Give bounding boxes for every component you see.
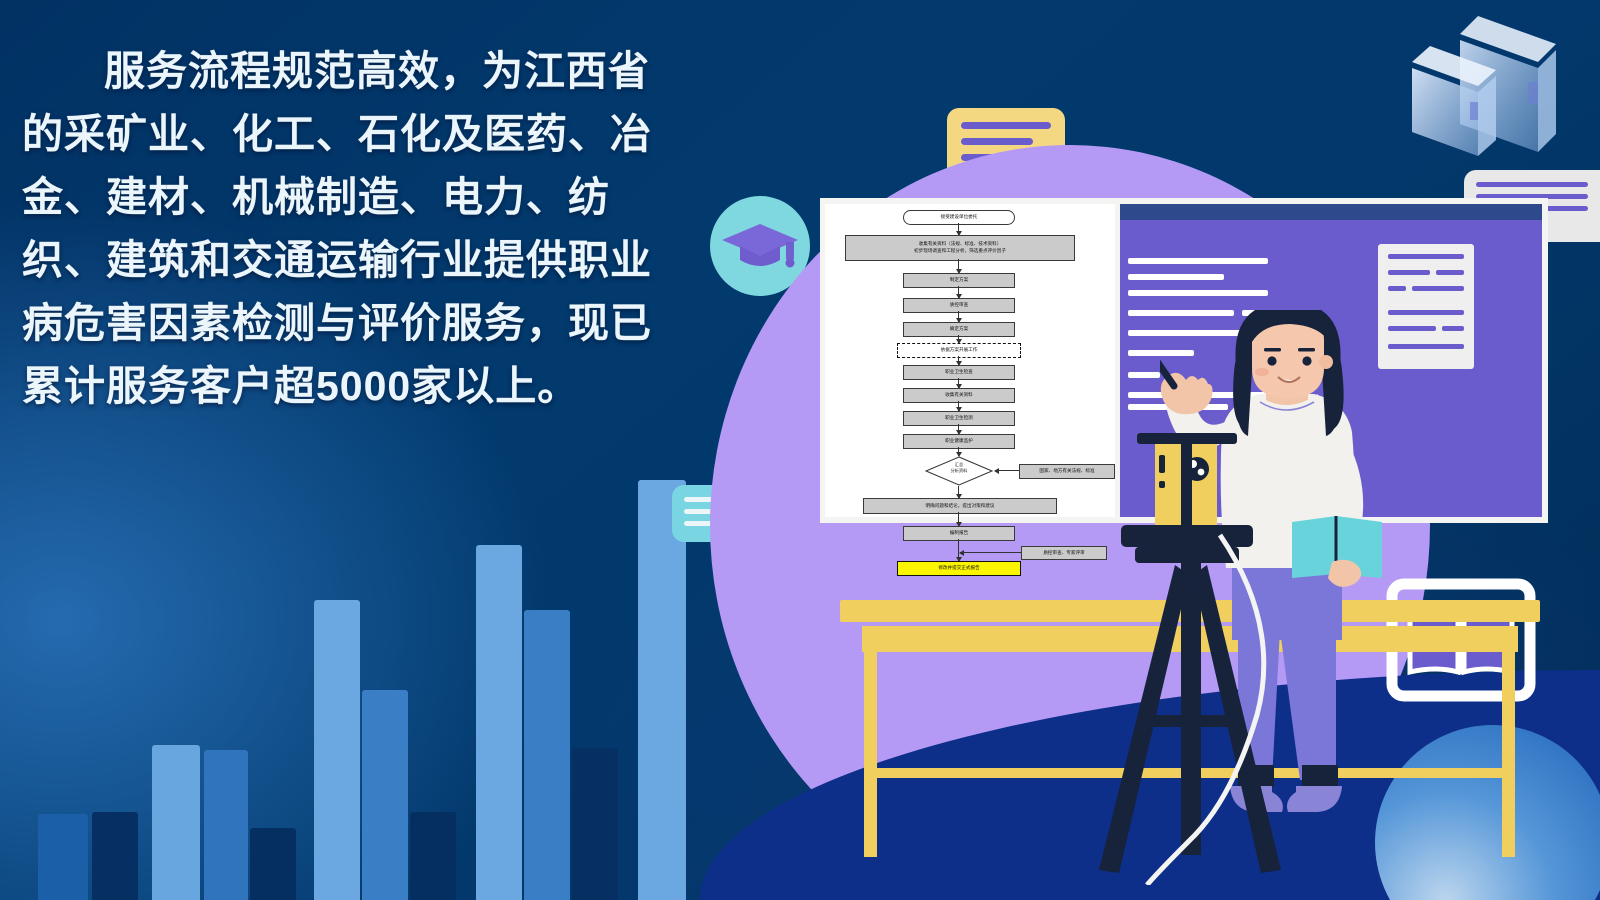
board-line	[1128, 290, 1268, 296]
headline-line: 累计服务客户超5000家以上。	[22, 355, 762, 418]
chart-bar	[476, 545, 522, 900]
flow-node-line: 初步现场调查和工程分析，筛选重点评价因子	[914, 248, 1006, 255]
chart-bar	[524, 610, 570, 900]
whiteboard-top-band	[1120, 204, 1542, 220]
flow-arrow	[958, 356, 959, 365]
flow-arrow	[958, 424, 959, 434]
flow-arrow	[958, 539, 959, 561]
flow-arrow	[958, 447, 959, 456]
chart-bar	[92, 812, 138, 900]
chart-bar	[38, 814, 88, 900]
flow-node-n2: 收集有关资料（法规、标准、技术资料） 初步现场调查和工程分析，筛选重点评价因子	[845, 235, 1075, 261]
decorative-bar-chart	[0, 400, 700, 900]
flow-node-n11: 汇总分析资料	[925, 456, 993, 486]
flow-node-n7: 职业卫生检查	[903, 365, 1015, 380]
doc-line	[1412, 286, 1464, 291]
headline-line: 金、建材、机械制造、电力、纺	[22, 166, 762, 229]
flow-arrow	[958, 486, 959, 498]
chart-bar	[250, 828, 296, 900]
chart-bar	[204, 750, 248, 900]
chart-bar	[152, 745, 200, 900]
flow-node-n4: 质控审查	[903, 298, 1015, 313]
flow-arrow-horizontal	[960, 552, 1021, 553]
flow-node-n1: 接受建设单位委托	[903, 210, 1015, 225]
flowchart-paper: 接受建设单位委托 收集有关资料（法规、标准、技术资料） 初步现场调查和工程分析，…	[825, 204, 1115, 517]
flow-arrow	[958, 512, 959, 526]
flow-arrow-horizontal	[995, 470, 1019, 471]
flowchart: 接受建设单位委托 收集有关资料（法规、标准、技术资料） 初步现场调查和工程分析，…	[825, 204, 1115, 517]
headline-line: 服务流程规范高效，为江西省	[22, 40, 762, 103]
flow-arrow	[958, 401, 959, 411]
desk-leg-right	[1502, 652, 1515, 857]
board-line	[1128, 372, 1160, 378]
board-line	[1128, 258, 1268, 264]
board-line	[1128, 274, 1224, 280]
flow-arrow	[958, 378, 959, 388]
tripod-projector	[1085, 415, 1295, 885]
classroom-illustration: 接受建设单位委托 收集有关资料（法规、标准、技术资料） 初步现场调查和工程分析，…	[700, 0, 1600, 900]
flow-node-n13: 编制报告	[903, 526, 1015, 541]
doc-line	[1388, 270, 1430, 275]
flow-node-n14: 修改并提交正式报告	[897, 561, 1021, 576]
flow-arrow	[958, 286, 959, 298]
flow-node-n3: 制定方案	[903, 273, 1015, 288]
headline-line: 病危害因素检测与评价服务，现已	[22, 292, 762, 355]
flow-node-n9: 职业卫生检测	[903, 411, 1015, 426]
chart-bar	[314, 600, 360, 900]
flow-arrow	[958, 259, 959, 273]
flow-arrow	[958, 311, 959, 322]
flow-node-n11-label: 汇总分析资料	[925, 462, 993, 474]
poster-canvas: 服务流程规范高效，为江西省 的采矿业、化工、石化及医药、冶 金、建材、机械制造、…	[0, 0, 1600, 900]
doc-line	[1388, 286, 1406, 291]
desk-leg-left	[864, 652, 877, 857]
flow-node-n12: 明确问题和结论，提出对策和建议	[863, 498, 1057, 514]
flow-node-n5: 确定方案	[903, 322, 1015, 337]
headline-line: 织、建筑和交通运输行业提供职业	[22, 229, 762, 292]
chart-bar	[410, 812, 456, 900]
doc-line	[1388, 254, 1464, 259]
headline-text: 服务流程规范高效，为江西省 的采矿业、化工、石化及医药、冶 金、建材、机械制造、…	[22, 40, 762, 418]
chart-bar	[362, 690, 408, 900]
flow-node-line: 收集有关资料（法规、标准、技术资料）	[919, 241, 1002, 248]
flow-arrow	[958, 335, 959, 343]
flow-node-n8: 收集有关资料	[903, 388, 1015, 403]
flow-node-n6: 依据方案开展工作	[897, 343, 1021, 358]
flow-node-n10: 职业健康监护	[903, 434, 1015, 449]
chart-bar	[572, 748, 618, 900]
chart-bar	[638, 480, 686, 900]
doc-line	[1436, 270, 1464, 275]
headline-line: 的采矿业、化工、石化及医药、冶	[22, 103, 762, 166]
flow-arrow	[958, 223, 959, 235]
